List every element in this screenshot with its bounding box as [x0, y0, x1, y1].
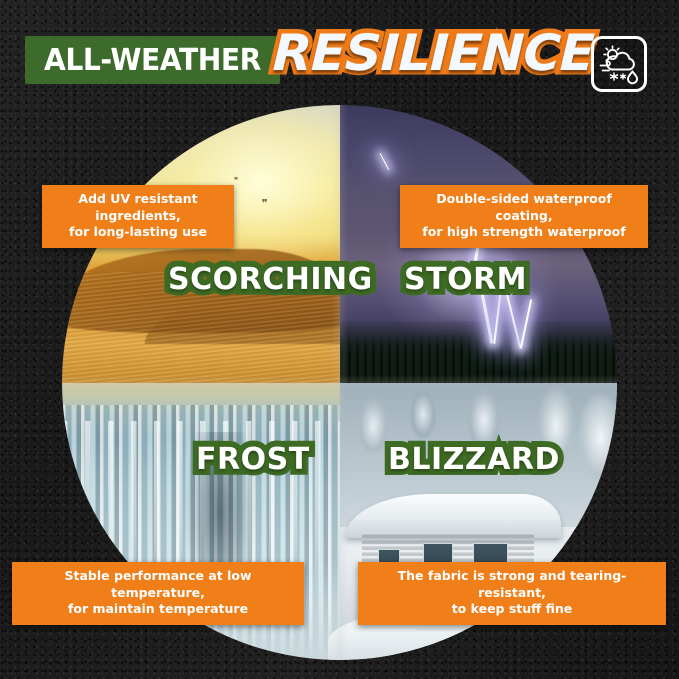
product-feature-poster: ALL-WEATHER RESILIENCE	[0, 0, 679, 679]
callout-uv-line1: Add UV resistant ingredients,	[52, 191, 224, 224]
label-blizzard: BLIZZARD	[388, 442, 560, 477]
callout-tear-resistant-line2: to keep stuff fine	[368, 601, 656, 618]
callout-tear-resistant: The fabric is strong and tearing-resista…	[358, 562, 666, 625]
poster-header: ALL-WEATHER RESILIENCE	[0, 0, 679, 108]
title-all-weather: ALL-WEATHER	[33, 36, 273, 84]
lightning-bolt-icon	[379, 153, 389, 171]
weather-sun-cloud-wind-snow-rain-icon	[597, 42, 641, 86]
callout-low-temperature-line1: Stable performance at low temperature,	[22, 568, 294, 601]
callout-uv-resistant: Add UV resistant ingredients, for long-l…	[42, 185, 234, 248]
callout-waterproof-line1: Double-sided waterproof coating,	[410, 191, 638, 224]
callout-tear-resistant-line1: The fabric is strong and tearing-resista…	[368, 568, 656, 601]
title-resilience: RESILIENCE	[272, 24, 595, 82]
bird-silhouette-icon: ❞	[262, 199, 268, 210]
label-storm: STORM	[404, 262, 527, 297]
label-frost: FROST	[196, 442, 310, 477]
callout-low-temperature-line2: for maintain temperature	[22, 601, 294, 618]
callout-waterproof: Double-sided waterproof coating, for hig…	[400, 185, 648, 248]
weather-icon-badge	[591, 36, 647, 92]
callout-uv-line2: for long-lasting use	[52, 224, 224, 241]
label-scorching: SCORCHING	[168, 262, 373, 297]
callout-low-temperature: Stable performance at low temperature, f…	[12, 562, 304, 625]
callout-waterproof-line2: for high strength waterproof	[410, 224, 638, 241]
storm-tree-line	[340, 333, 618, 383]
bird-silhouette-icon: ❞	[234, 177, 238, 185]
